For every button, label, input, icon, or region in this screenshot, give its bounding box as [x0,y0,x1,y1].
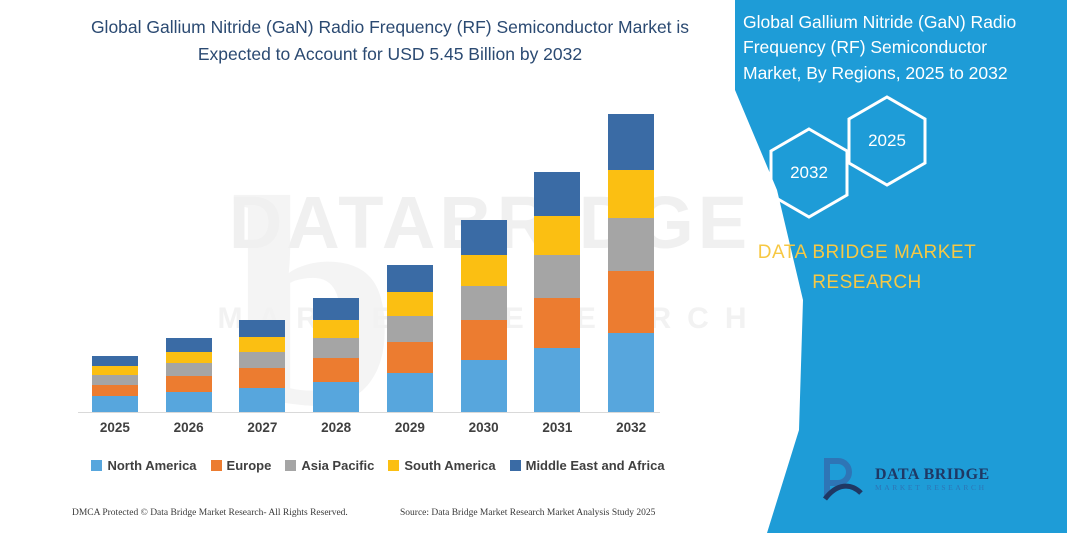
x-axis-label: 2027 [239,420,285,442]
bar-segment [534,172,580,216]
logo-text: DATA BRIDGE MARKET RESEARCH [875,466,990,492]
hexagon-badge-2032: 2032 [767,126,851,220]
brand-line-1: DATA BRIDGE MARKET [667,238,1067,268]
bar-segment [313,382,359,412]
bar-segment [461,320,507,360]
x-axis-label: 2026 [166,420,212,442]
bar-segment [461,360,507,412]
x-axis-line [78,412,660,413]
legend-swatch-icon [510,460,521,471]
bar-column [608,114,654,412]
legend-swatch-icon [388,460,399,471]
bar-segment [461,220,507,255]
bar-segment [166,392,212,412]
brand-line-2: RESEARCH [667,268,1067,298]
bar-segment [239,337,285,352]
footer-copyright: DMCA Protected © Data Bridge Market Rese… [72,508,348,518]
bar-segment [313,358,359,381]
bar-column [313,298,359,412]
bar-segment [534,255,580,298]
chart-title: Global Gallium Nitride (GaN) Radio Frequ… [60,14,720,68]
x-axis-label: 2031 [534,420,580,442]
legend-swatch-icon [211,460,222,471]
bar-segment [387,265,433,292]
stacked-bar-group [78,100,668,412]
data-bridge-logo: DATA BRIDGE MARKET RESEARCH [817,453,1037,505]
bar-segment [92,356,138,367]
bar-segment [534,216,580,255]
brand-text-right: DATA BRIDGE MARKET RESEARCH [667,238,1067,299]
bar-segment [92,385,138,397]
chart-plot-area [78,100,668,412]
bar-segment [461,255,507,286]
bar-column [239,320,285,412]
legend-label: Asia Pacific [301,458,374,473]
bar-segment [387,316,433,342]
bar-segment [608,271,654,333]
bar-column [461,220,507,412]
infographic-page: b DATABRIDGE MARKET RESEARCH Global Gall… [0,0,1067,533]
bar-segment [461,286,507,320]
bar-segment [387,292,433,315]
bar-segment [239,320,285,338]
x-axis-tick-labels: 20252026202720282029203020312032 [78,420,668,442]
x-axis-label: 2029 [387,420,433,442]
bar-segment [387,342,433,373]
bar-segment [239,352,285,369]
bridge-b-logo-icon [817,455,865,503]
hexagon-badge-2025: 2025 [845,94,929,188]
logo-main-text: DATA BRIDGE [875,466,990,484]
legend-label: North America [107,458,196,473]
bar-segment [239,388,285,412]
bar-segment [166,363,212,376]
legend-item[interactable]: Asia Pacific [285,458,374,473]
bar-segment [313,320,359,339]
legend-item[interactable]: Middle East and Africa [510,458,665,473]
bar-segment [166,352,212,364]
x-axis-label: 2032 [608,420,654,442]
bar-segment [92,375,138,385]
right-panel-title: Global Gallium Nitride (GaN) Radio Frequ… [743,10,1043,86]
legend-label: South America [404,458,495,473]
bar-segment [534,348,580,412]
hexagon-label-2025: 2025 [868,131,906,151]
bar-column [387,265,433,412]
x-axis-label: 2030 [461,420,507,442]
bar-segment [608,333,654,412]
x-axis-label: 2028 [313,420,359,442]
x-axis-label: 2025 [92,420,138,442]
legend-swatch-icon [285,460,296,471]
hexagon-badges: 2032 2025 [767,110,997,220]
bar-segment [166,376,212,392]
bar-segment [239,368,285,387]
legend-item[interactable]: Europe [211,458,272,473]
legend-label: Middle East and Africa [526,458,665,473]
footer-source: Source: Data Bridge Market Research Mark… [400,508,655,518]
bar-segment [534,298,580,348]
legend-swatch-icon [91,460,102,471]
bar-segment [166,338,212,352]
legend-item[interactable]: North America [91,458,196,473]
bar-segment [608,170,654,219]
legend-item[interactable]: South America [388,458,495,473]
bar-column [166,338,212,412]
bar-segment [313,338,359,358]
logo-sub-text: MARKET RESEARCH [875,484,990,492]
legend-label: Europe [227,458,272,473]
chart-legend: North AmericaEuropeAsia PacificSouth Ame… [78,455,678,475]
bar-segment [313,298,359,319]
hexagon-label-2032: 2032 [790,163,828,183]
bar-segment [92,396,138,412]
bar-segment [92,366,138,375]
bar-segment [608,218,654,271]
bar-column [92,356,138,412]
bar-column [534,172,580,412]
bar-segment [608,114,654,170]
bar-segment [387,373,433,412]
